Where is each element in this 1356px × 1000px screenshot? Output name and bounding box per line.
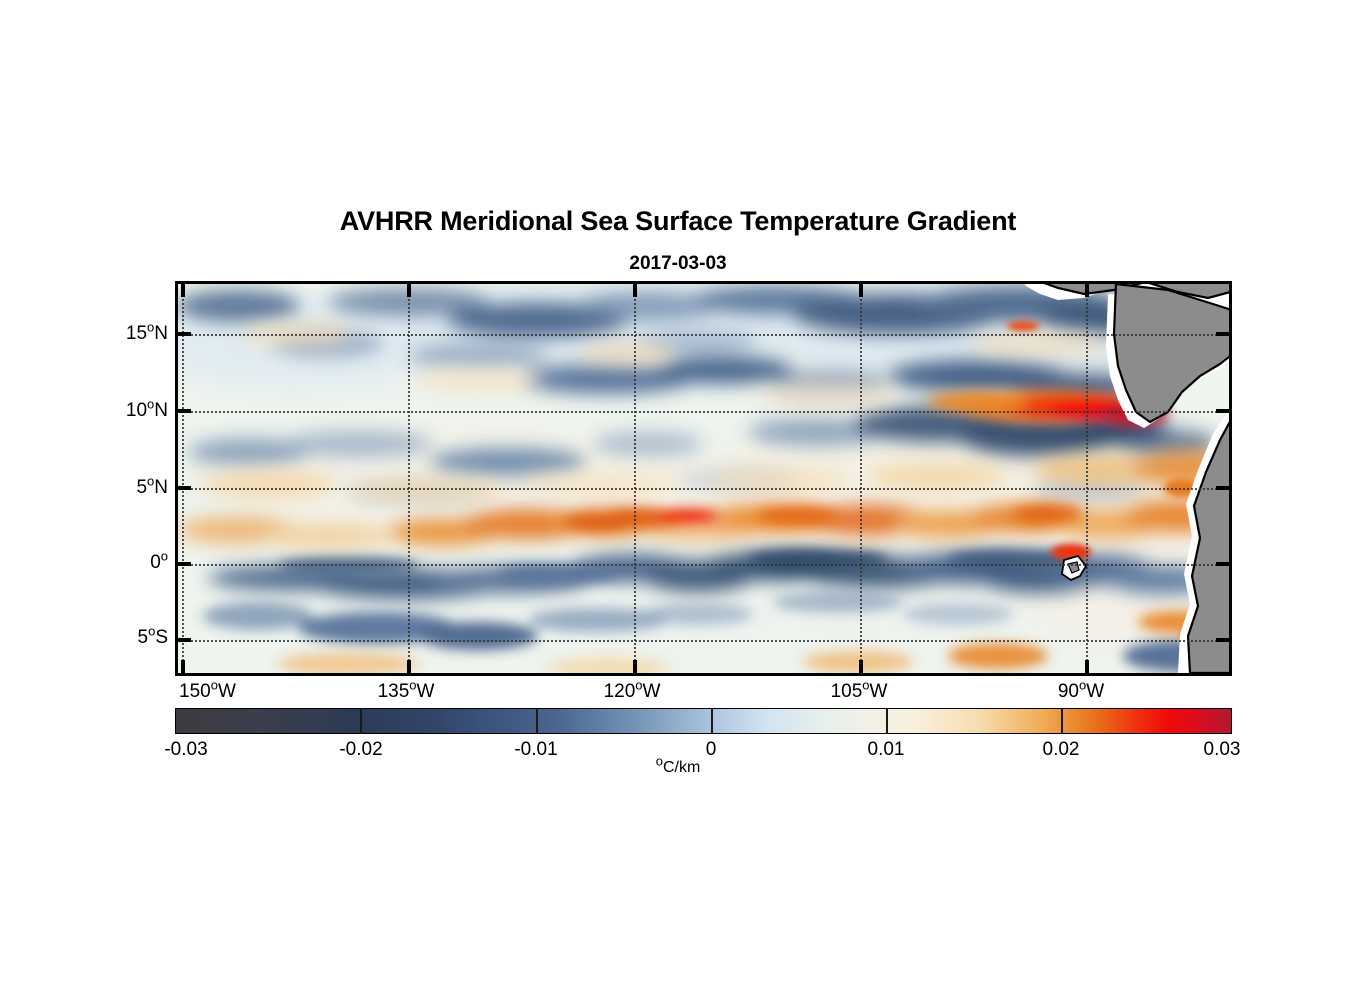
colorbar-label--002: -0.02	[339, 739, 382, 761]
ytick-15N-left	[178, 332, 191, 336]
gridline-lon-150W	[182, 284, 184, 673]
gridline-lon-120W	[634, 284, 636, 673]
colorbar-unit-label: oC/km	[0, 759, 1356, 777]
ytick-15N-right	[1216, 332, 1229, 336]
colorbar-label-0: 0	[706, 739, 717, 761]
ytick-label-5N: 5oN	[136, 477, 168, 499]
colorbar-tick-0	[711, 708, 713, 734]
xtick-120W-bottom	[633, 660, 637, 673]
xtick-90W-top	[1085, 284, 1089, 297]
colorbar-label-001: 0.01	[868, 739, 905, 761]
xtick-150W-top	[181, 284, 185, 297]
colorbar-label--003: -0.03	[164, 739, 207, 761]
xtick-label-90W: 90oW	[1058, 681, 1104, 703]
colorbar-label-002: 0.02	[1043, 739, 1080, 761]
xtick-label-135W: 135oW	[378, 681, 435, 703]
xtick-135W-top	[407, 284, 411, 297]
page-title: AVHRR Meridional Sea Surface Temperature…	[0, 206, 1356, 237]
gridline-lat-5S	[178, 640, 1229, 642]
ytick-5N-left	[178, 486, 191, 490]
gridline-lat-0	[178, 564, 1229, 566]
xtick-label-120W: 120oW	[604, 681, 661, 703]
ytick-5S-left	[178, 638, 191, 642]
gridline-lon-135W	[408, 284, 410, 673]
ytick-label-5S: 5oS	[138, 627, 169, 649]
xtick-150W-bottom	[181, 660, 185, 673]
xtick-105W-top	[859, 284, 863, 297]
ytick-5N-right	[1216, 486, 1229, 490]
xtick-105W-bottom	[859, 660, 863, 673]
ytick-0-right	[1216, 562, 1229, 566]
figure-subtitle: 2017-03-03	[0, 253, 1356, 275]
ytick-10N-left	[178, 409, 191, 413]
ytick-label-15N: 15oN	[126, 323, 168, 345]
colorbar-label-003: 0.03	[1204, 739, 1241, 761]
gridline-lon-105W	[860, 284, 862, 673]
sst-gradient-heatmap	[178, 284, 1229, 673]
xtick-135W-bottom	[407, 660, 411, 673]
map-plot-area	[175, 281, 1232, 676]
colorbar-tick-002	[1061, 708, 1063, 734]
xtick-label-105W: 105oW	[831, 681, 888, 703]
gridline-lat-15N	[178, 334, 1229, 336]
ytick-5S-right	[1216, 638, 1229, 642]
colorbar-tick--002	[360, 708, 362, 734]
xtick-90W-bottom	[1085, 660, 1089, 673]
gridline-lon-90W	[1086, 284, 1088, 673]
colorbar-tick--001	[536, 708, 538, 734]
heatmap-field	[178, 284, 1229, 673]
xtick-120W-top	[633, 284, 637, 297]
ytick-label-10N: 10oN	[126, 400, 168, 422]
xtick-label-150W: 150oW	[179, 681, 236, 703]
gridline-lat-5N	[178, 488, 1229, 490]
colorbar-label--001: -0.01	[514, 739, 557, 761]
ytick-label-0: 0o	[150, 552, 168, 574]
gridline-lat-10N	[178, 411, 1229, 413]
colorbar	[175, 708, 1232, 734]
figure-canvas: AVHRR Meridional Sea Surface Temperature…	[0, 0, 1356, 1000]
ytick-0-left	[178, 562, 191, 566]
ytick-10N-right	[1216, 409, 1229, 413]
colorbar-tick-001	[886, 708, 888, 734]
